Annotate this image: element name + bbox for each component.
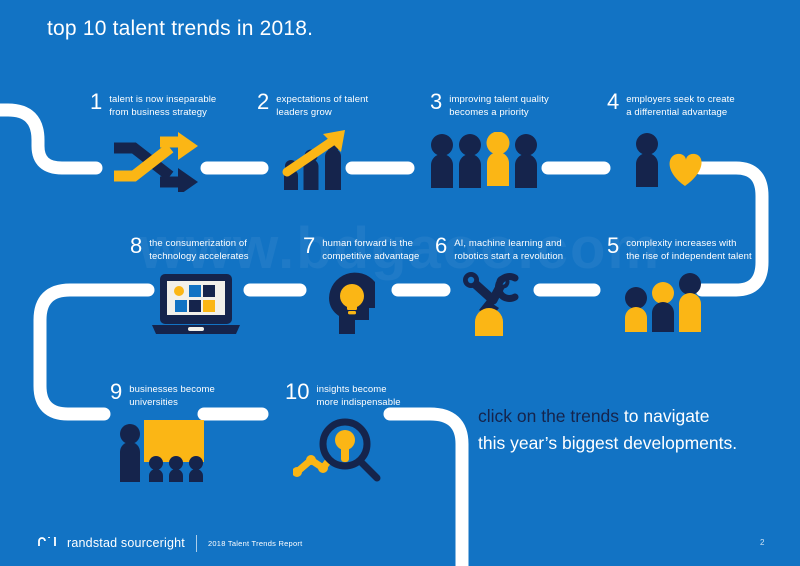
trend-number: 10 — [285, 382, 309, 402]
trend-item-3[interactable]: 3 improving talent quality becomes a pri… — [430, 94, 570, 119]
four-people-one-highlighted-icon — [428, 132, 538, 190]
randstad-mark-icon — [38, 534, 56, 552]
trend-number: 2 — [257, 92, 269, 112]
footer: randstad sourceright 2018 Talent Trends … — [38, 534, 302, 552]
trend-label: insights become more indispensable — [316, 384, 400, 409]
trend-number: 9 — [110, 382, 122, 402]
ribbon-seg-left-top — [0, 110, 96, 168]
trend-label: the consumerization of technology accele… — [149, 238, 248, 263]
trend-item-5[interactable]: 5 complexity increases with the rise of … — [607, 238, 757, 263]
trend-number: 3 — [430, 92, 442, 112]
trend-item-10[interactable]: 10 insights become more indispensable — [285, 384, 410, 409]
people-group-icon — [619, 272, 711, 334]
trend-label: businesses become universities — [129, 384, 215, 409]
report-name: 2018 Talent Trends Report — [208, 539, 303, 548]
laptop-tiles-icon — [150, 272, 242, 336]
trend-label: talent is now inseparable from business … — [109, 94, 216, 119]
trend-number: 7 — [303, 236, 315, 256]
trend-label: expectations of talent leaders grow — [276, 94, 368, 119]
robot-arm-icon — [457, 270, 533, 338]
trend-item-9[interactable]: 9 businesses become universities — [110, 384, 240, 409]
trend-number: 5 — [607, 236, 619, 256]
ribbon-seg-tail — [390, 414, 462, 566]
trend-number: 1 — [90, 92, 102, 112]
trend-label: employers seek to create a differential … — [626, 94, 735, 119]
cta-line-1: click on the trends to navigate — [478, 403, 737, 430]
trend-item-4[interactable]: 4 employers seek to create a differentia… — [607, 94, 747, 119]
trend-item-7[interactable]: 7 human forward is the competitive advan… — [303, 238, 423, 263]
cta-line-2: this year’s biggest developments. — [478, 430, 737, 457]
head-lightbulb-icon — [321, 272, 395, 336]
magnifier-trendline-icon — [293, 416, 385, 484]
page-title: top 10 talent trends in 2018. — [47, 17, 313, 41]
infographic-canvas: www.bdgaoo.com top 10 talent trends in 2… — [0, 0, 800, 566]
cta-rest: to navigate — [619, 406, 709, 426]
brand-name: randstad sourceright — [67, 536, 185, 550]
call-to-action: click on the trends to navigate this yea… — [478, 403, 737, 457]
cta-highlight: click on the trends — [478, 406, 619, 426]
trend-number: 4 — [607, 92, 619, 112]
trend-item-1[interactable]: 1 talent is now inseparable from busines… — [90, 94, 230, 119]
footer-divider — [196, 535, 197, 552]
shuffle-arrows-icon — [108, 130, 204, 192]
growth-bars-arrow-icon — [279, 128, 353, 192]
trend-label: AI, machine learning and robotics start … — [454, 238, 563, 263]
trend-label: human forward is the competitive advanta… — [322, 238, 419, 263]
presentation-audience-icon — [110, 418, 208, 484]
trend-item-6[interactable]: 6 AI, machine learning and robotics star… — [435, 238, 575, 263]
trend-number: 8 — [130, 236, 142, 256]
trend-label: complexity increases with the rise of in… — [626, 238, 752, 263]
person-with-heart-icon — [629, 132, 709, 190]
trend-label: improving talent quality becomes a prior… — [449, 94, 549, 119]
page-number: 2 — [760, 538, 764, 547]
trend-item-2[interactable]: 2 expectations of talent leaders grow — [257, 94, 387, 119]
trend-item-8[interactable]: 8 the consumerization of technology acce… — [130, 238, 265, 263]
trend-number: 6 — [435, 236, 447, 256]
